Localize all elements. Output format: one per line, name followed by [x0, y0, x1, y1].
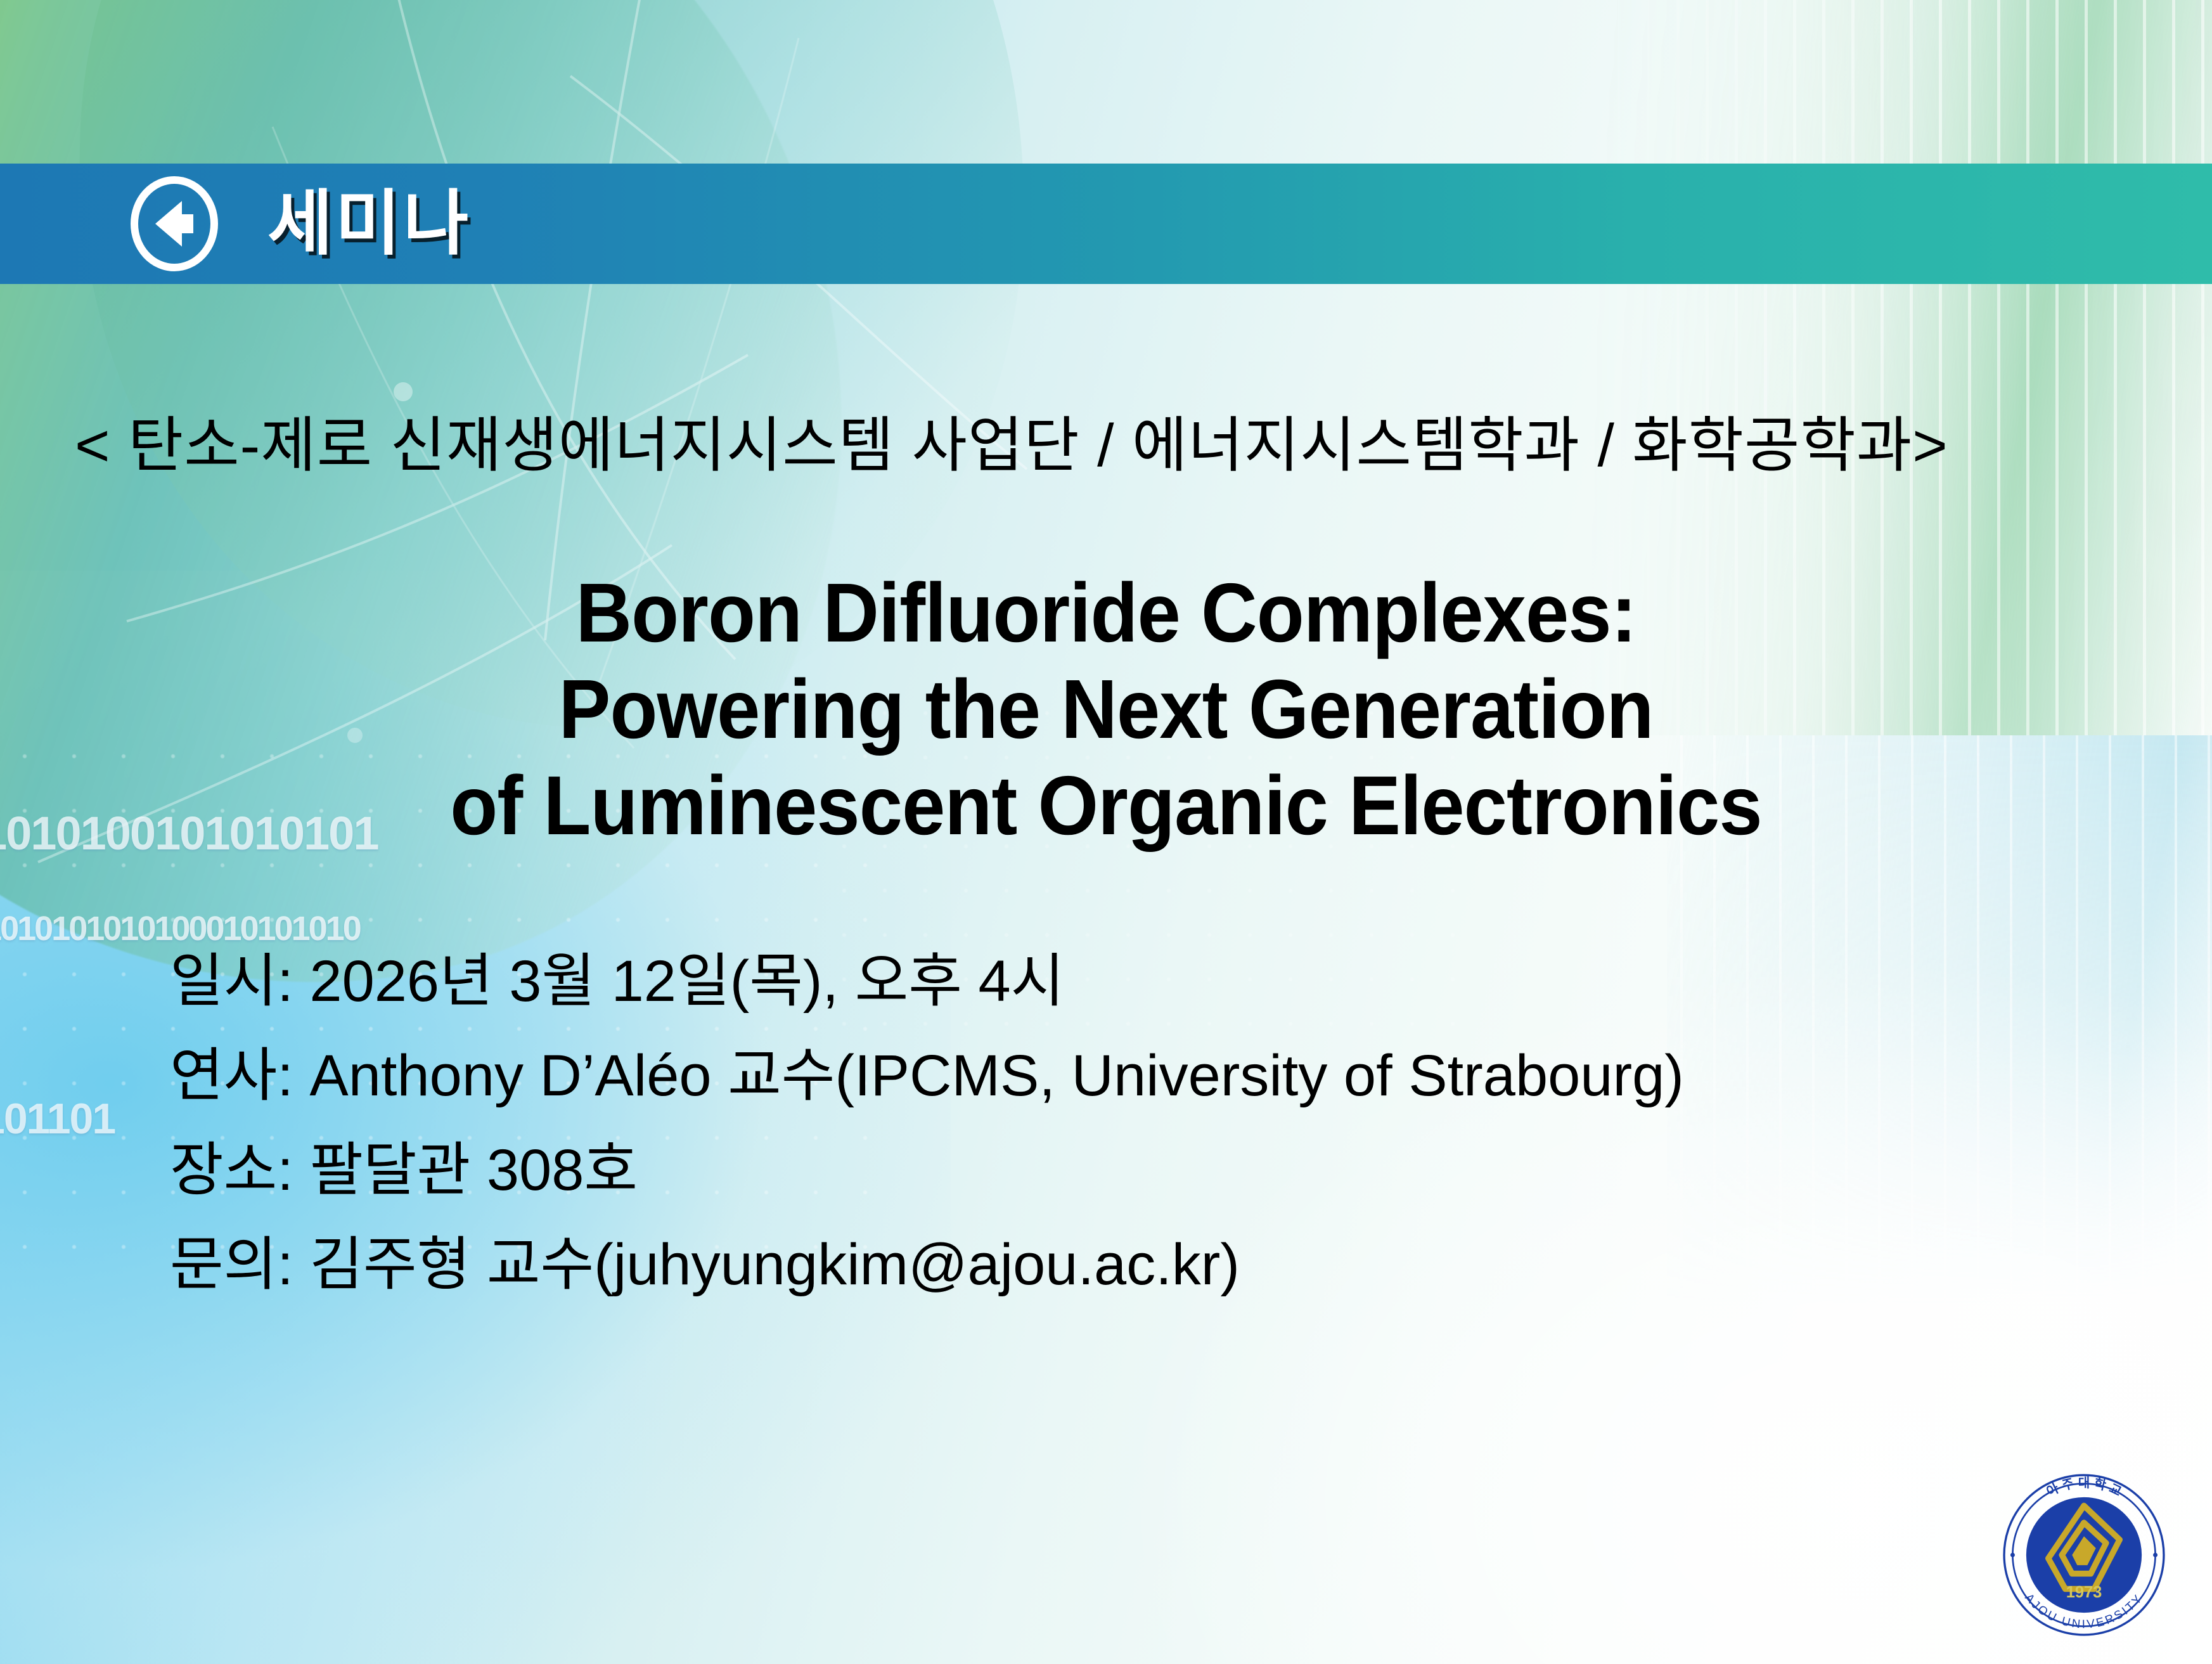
ajou-university-seal: 1973 아 주 대 학 교 AJOU UNIVERSITY — [1999, 1470, 2169, 1640]
detail-row-speaker: 연사: Anthony D’Aléo 교수(IPCMS, University … — [170, 1029, 2212, 1123]
detail-row-location: 장소: 팔달관 308호 — [170, 1123, 2212, 1218]
seminar-details: 일시: 2026년 3월 12일(목), 오후 4시 연사: Anthony D… — [0, 934, 2212, 1312]
seminar-poster-slide: 1010100101010101 01010101010100010101010… — [0, 0, 2212, 1664]
detail-row-datetime: 일시: 2026년 3월 12일(목), 오후 4시 — [170, 934, 2212, 1029]
poster-content: < 탄소-제로 신재생에너지시스템 사업단 / 에너지시스템학과 / 화학공학과… — [0, 284, 2212, 1313]
talk-title-line-1: Boron Difluoride Complexes: — [77, 565, 2135, 661]
department-line: < 탄소-제로 신재생에너지시스템 사업단 / 에너지시스템학과 / 화학공학과… — [0, 397, 2212, 484]
detail-row-contact: 문의: 김주형 교수(juhyungkim@ajou.ac.kr) — [170, 1218, 2212, 1312]
seal-year: 1973 — [2066, 1583, 2102, 1601]
talk-title-line-2: Powering the Next Generation — [77, 661, 2135, 758]
banner-title: 세미나 — [267, 188, 471, 259]
talk-title: Boron Difluoride Complexes: Powering the… — [77, 565, 2135, 853]
talk-title-line-3: of Luminescent Organic Electronics — [77, 758, 2135, 854]
back-arrow-circle-icon[interactable] — [127, 176, 222, 271]
header-banner: 세미나 — [0, 164, 2212, 284]
